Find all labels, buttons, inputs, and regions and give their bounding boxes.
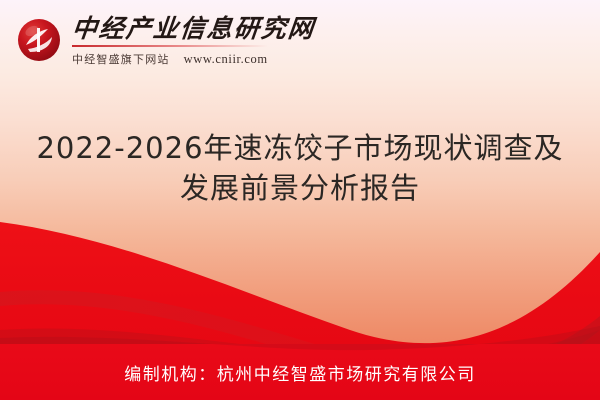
brand-name: 中经产业信息研究网 <box>71 16 317 42</box>
report-cover: 中经产业信息研究网 中经智盛旗下网站 www.cniir.com 2022-20… <box>0 0 600 400</box>
brand-subtitle-row: 中经智盛旗下网站 www.cniir.com <box>72 51 315 67</box>
brand-sub-url[interactable]: www.cniir.com <box>184 52 268 67</box>
report-title-line-2: 发展前景分析报告 <box>0 168 600 208</box>
cover-header: 中经产业信息研究网 中经智盛旗下网站 www.cniir.com <box>0 0 600 90</box>
publisher-line: 编制机构：杭州中经智盛市场研究有限公司 <box>124 360 476 385</box>
cover-footer: 编制机构：杭州中经智盛市场研究有限公司 <box>0 344 600 400</box>
brand-divider <box>72 45 268 47</box>
report-title: 2022-2026年速冻饺子市场现状调查及 发展前景分析报告 <box>0 128 600 208</box>
report-title-line-1: 2022-2026年速冻饺子市场现状调查及 <box>0 128 600 168</box>
logo-text-block: 中经产业信息研究网 中经智盛旗下网站 www.cniir.com <box>72 16 315 67</box>
site-logo[interactable]: 中经产业信息研究网 中经智盛旗下网站 www.cniir.com <box>16 16 315 67</box>
zhongjing-emblem-icon <box>16 17 62 63</box>
brand-sub-cn: 中经智盛旗下网站 <box>72 51 170 67</box>
